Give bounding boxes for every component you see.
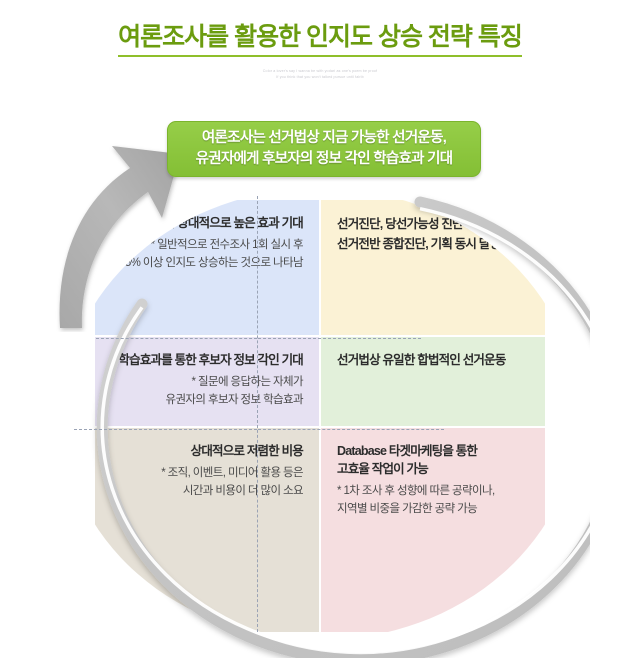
subtitle-line-2: If you think that you won't talked pursu… <box>0 74 640 80</box>
summary-banner-line-1: 여론조사는 선거법상 지금 가능한 선거운동, <box>196 128 453 149</box>
panel-body-line-1: * 조직, 이벤트, 미디어 활용 등은 <box>111 465 303 483</box>
panel-heading-line-1: Database 타겟마케팅을 통한 <box>337 442 529 460</box>
panel-relatively-low-cost[interactable]: 상대적으로 저렴한 비용 * 조직, 이벤트, 미디어 활용 등은 시간과 비용… <box>95 428 319 632</box>
panel-content: 선거법상 유일한 합법적인 선거운동 <box>337 351 529 369</box>
panel-content: Database 타겟마케팅을 통한 고효율 작업이 가능 * 1차 조사 후 … <box>337 442 529 519</box>
panel-body: * 조직, 이벤트, 미디어 활용 등은 시간과 비용이 더 많이 소요 <box>111 465 303 501</box>
panel-heading: 선거법상 유일한 합법적인 선거운동 <box>337 351 529 369</box>
summary-banner-line-2: 유권자에게 후보자의 정보 각인 학습효과 기대 <box>196 149 453 170</box>
summary-banner-text: 여론조사는 선거법상 지금 가능한 선거운동, 유권자에게 후보자의 정보 각인… <box>196 128 453 170</box>
panel-content: 선거진단, 당선가능성 진단 등 선거전반 종합진단, 기획 동시 달성 가능 <box>337 214 529 254</box>
panel-body-line-1: * 일반적으로 전수조사 1회 실시 후 <box>111 237 303 255</box>
panel-short-time-high-effect[interactable]: 짧은 시간 상대적으로 높은 효과 기대 * 일반적으로 전수조사 1회 실시 … <box>95 200 319 335</box>
panel-body-line-1: * 1차 조사 후 성향에 따른 공략이나, <box>337 483 529 501</box>
panel-election-diagnosis[interactable]: 선거진단, 당선가능성 진단 등 선거전반 종합진단, 기획 동시 달성 가능 <box>321 200 545 335</box>
panel-heading: 학습효과를 통한 후보자 정보 각인 기대 <box>111 351 303 369</box>
panel-body-line-2: 시간과 비용이 더 많이 소요 <box>111 483 303 501</box>
divider-horizontal-right-lower <box>258 429 444 430</box>
divider-horizontal-left-lower <box>74 429 257 430</box>
panel-heading: 상대적으로 저렴한 비용 <box>111 442 303 460</box>
panel-body-line-2: 5% 이상 인지도 상승하는 것으로 나타남 <box>111 255 303 273</box>
wheel-clip-area: 짧은 시간 상대적으로 높은 효과 기대 * 일반적으로 전수조사 1회 실시 … <box>62 188 578 640</box>
panel-content: 짧은 시간 상대적으로 높은 효과 기대 * 일반적으로 전수조사 1회 실시 … <box>111 214 303 273</box>
divider-vertical <box>257 196 258 632</box>
page-title: 여론조사를 활용한 인지도 상승 전략 특징 <box>118 22 522 57</box>
panel-content: 학습효과를 통한 후보자 정보 각인 기대 * 질문에 응답하는 자체가 유권자… <box>111 351 303 410</box>
divider-horizontal-right-upper <box>258 338 421 339</box>
summary-banner: 여론조사는 선거법상 지금 가능한 선거운동, 유권자에게 후보자의 정보 각인… <box>167 121 481 177</box>
panel-database-target-marketing[interactable]: Database 타겟마케팅을 통한 고효율 작업이 가능 * 1차 조사 후 … <box>321 428 545 632</box>
subtitle: Color a lover's say I wanna be with yoda… <box>0 68 640 81</box>
panel-heading: 짧은 시간 상대적으로 높은 효과 기대 <box>111 214 303 232</box>
panel-heading-line-2: 선거전반 종합진단, 기획 동시 달성 가능 <box>337 234 529 254</box>
panel-body-line-1: * 질문에 응답하는 자체가 <box>111 374 303 392</box>
panel-body: * 일반적으로 전수조사 1회 실시 후 5% 이상 인지도 상승하는 것으로 … <box>111 237 303 273</box>
header: 여론조사를 활용한 인지도 상승 전략 특징 <box>0 22 640 57</box>
panel-learning-effect[interactable]: 학습효과를 통한 후보자 정보 각인 기대 * 질문에 응답하는 자체가 유권자… <box>95 337 319 426</box>
panel-body: * 1차 조사 후 성향에 따른 공략이나, 지역별 비중을 가감한 공략 가능 <box>337 483 529 519</box>
panel-only-legal-campaign[interactable]: 선거법상 유일한 합법적인 선거운동 <box>321 337 545 426</box>
panel-heading-line-2: 고효율 작업이 가능 <box>337 460 529 478</box>
panel-grid: 짧은 시간 상대적으로 높은 효과 기대 * 일반적으로 전수조사 1회 실시 … <box>95 200 545 628</box>
panel-body: * 질문에 응답하는 자체가 유권자의 후보자 정보 학습효과 <box>111 374 303 410</box>
panel-heading-line-1: 선거진단, 당선가능성 진단 등 <box>337 214 529 234</box>
panel-content: 상대적으로 저렴한 비용 * 조직, 이벤트, 미디어 활용 등은 시간과 비용… <box>111 442 303 501</box>
panel-body-line-2: 유권자의 후보자 정보 학습효과 <box>111 392 303 410</box>
divider-horizontal-left-upper <box>96 338 257 339</box>
strategy-wheel: 짧은 시간 상대적으로 높은 효과 기대 * 일반적으로 전수조사 1회 실시 … <box>62 188 578 640</box>
panel-body-line-2: 지역별 비중을 가감한 공략 가능 <box>337 501 529 519</box>
